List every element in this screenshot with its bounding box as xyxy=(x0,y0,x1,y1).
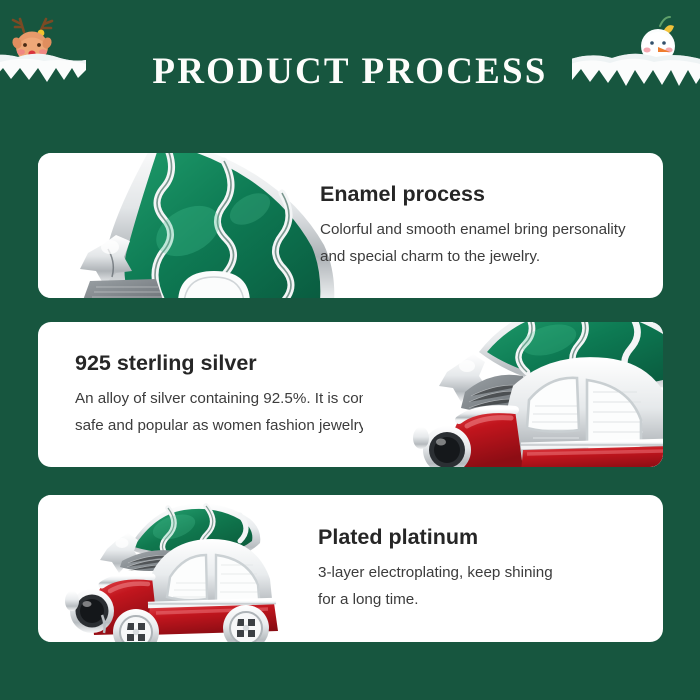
feature-card-sterling-silver: 925 sterling silver An alloy of silver c… xyxy=(38,322,663,467)
plated-platinum-text-block: Plated platinum 3-layer electroplating, … xyxy=(318,495,648,642)
card-body-line: 3-layer electroplating, keep shining xyxy=(318,559,648,586)
card-body-plated-platinum: 3-layer electroplating, keep shining for… xyxy=(318,559,648,613)
card-heading-plated-platinum: Plated platinum xyxy=(318,524,648,550)
card-body-enamel-process: Colorful and smooth enamel bring persona… xyxy=(320,216,650,270)
silver-car-with-tree-charm-illustration xyxy=(363,322,663,467)
feature-card-enamel-process: Enamel process Colorful and smooth ename… xyxy=(38,153,663,298)
enamel-process-text-block: Enamel process Colorful and smooth ename… xyxy=(320,153,650,298)
enamel-tree-charm-image xyxy=(38,153,338,298)
red-car-with-tree-charm-illustration xyxy=(46,495,316,642)
page-title: PRODUCT PROCESS xyxy=(0,50,700,94)
plated-platinum-charm-image xyxy=(46,495,316,642)
card-body-line: and special charm to the jewelry. xyxy=(320,243,650,270)
green-enamel-tree-charm-illustration xyxy=(38,153,338,298)
card-heading-enamel-process: Enamel process xyxy=(320,181,650,207)
feature-card-plated-platinum: Plated platinum 3-layer electroplating, … xyxy=(38,495,663,642)
card-body-line: for a long time. xyxy=(318,586,648,613)
card-body-line: Colorful and smooth enamel bring persona… xyxy=(320,216,650,243)
sterling-silver-charm-image xyxy=(363,322,663,467)
page-header: PRODUCT PROCESS xyxy=(0,0,700,140)
product-process-page: PRODUCT PROCESS xyxy=(0,0,700,700)
